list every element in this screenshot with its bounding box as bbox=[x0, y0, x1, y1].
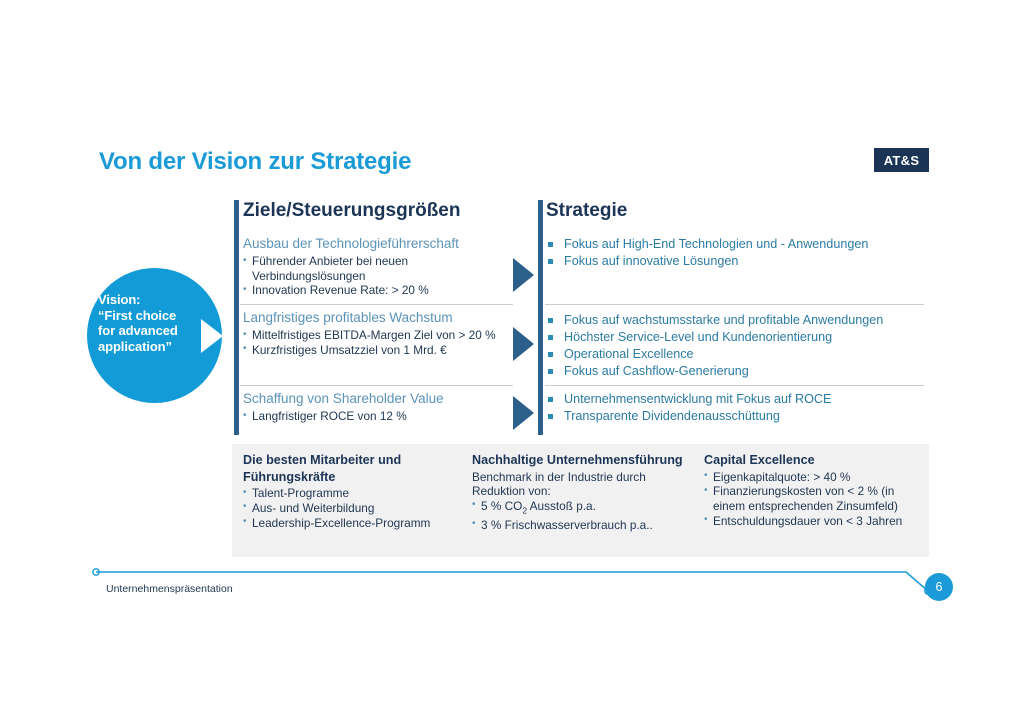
strategy-list: Unternehmensentwicklung mit Fokus auf RO… bbox=[548, 391, 928, 425]
foundation-item: Aus- und Weiterbildung bbox=[243, 501, 461, 516]
separator-right-1 bbox=[545, 304, 924, 305]
vision-text: Vision: “First choice for advanced appli… bbox=[98, 292, 206, 354]
foundation-title: Capital Excellence bbox=[704, 452, 922, 469]
strategy-item: Unternehmensentwicklung mit Fokus auf RO… bbox=[548, 391, 928, 408]
strategy-group: Fokus auf wachstumsstarke und profitable… bbox=[548, 312, 928, 380]
goal-list: Mittelfristiges EBITDA-Margen Ziel von >… bbox=[243, 328, 511, 357]
strategy-list: Fokus auf wachstumsstarke und profitable… bbox=[548, 312, 928, 380]
foundation-column: Nachhaltige Unternehmensführung Benchmar… bbox=[472, 452, 687, 533]
strategy-list: Fokus auf High-End Technologien und - An… bbox=[548, 236, 928, 270]
footer-label: Unternehmenspräsentation bbox=[106, 583, 233, 595]
foundation-item: Entschuldungsdauer von < 3 Jahren bbox=[704, 514, 922, 529]
strategy-item: Höchster Service-Level und Kundenorienti… bbox=[548, 329, 928, 346]
goals-column-bar bbox=[234, 200, 239, 435]
strategy-item: Transparente Dividendenausschüttung bbox=[548, 408, 928, 425]
vision-line-1: Vision: bbox=[98, 292, 206, 308]
separator-right-2 bbox=[545, 385, 924, 386]
foundation-intro: Benchmark in der Industrie durch Redukti… bbox=[472, 470, 687, 499]
foundation-title: Die besten Mitarbeiter und Führungskräft… bbox=[243, 452, 461, 485]
flow-arrow-icon bbox=[513, 327, 534, 361]
goal-group: Schaffung von Shareholder Value Langfris… bbox=[243, 391, 511, 424]
goal-item: Kurzfristiges Umsatzziel von 1 Mrd. € bbox=[243, 343, 511, 358]
goal-list: Führender Anbieter bei neuen Verbindungs… bbox=[243, 254, 511, 298]
slide-canvas: Von der Vision zur Strategie AT&S Vision… bbox=[0, 0, 1024, 719]
vision-line-2: “First choice bbox=[98, 308, 206, 324]
goal-list: Langfristiger ROCE von 12 % bbox=[243, 409, 511, 424]
separator-left-1 bbox=[240, 304, 513, 305]
strategy-item: Fokus auf wachstumsstarke und profitable… bbox=[548, 312, 928, 329]
vision-line-3: for advanced bbox=[98, 323, 206, 339]
foundation-item: 3 % Frischwasserverbrauch p.a.. bbox=[472, 518, 687, 533]
goal-group-title: Ausbau der Technologieführerschaft bbox=[243, 236, 511, 251]
foundation-list: Eigenkapitalquote: > 40 % Finanzierungsk… bbox=[704, 470, 922, 529]
goal-item: Innovation Revenue Rate: > 20 % bbox=[243, 283, 511, 298]
company-logo: AT&S bbox=[874, 148, 929, 172]
goal-item: Langfristiger ROCE von 12 % bbox=[243, 409, 511, 424]
page-title: Von der Vision zur Strategie bbox=[99, 148, 411, 176]
goal-group-title: Langfristiges profitables Wachstum bbox=[243, 310, 511, 325]
foundation-item: Talent-Programme bbox=[243, 486, 461, 501]
foundation-item: Leadership-Excellence-Programm bbox=[243, 516, 461, 531]
goal-item: Führender Anbieter bei neuen Verbindungs… bbox=[243, 254, 511, 283]
foundation-title: Nachhaltige Unternehmensführung bbox=[472, 452, 687, 469]
goal-group-title: Schaffung von Shareholder Value bbox=[243, 391, 511, 406]
vision-arrow-icon bbox=[201, 319, 223, 353]
foundation-column: Die besten Mitarbeiter und Führungskräft… bbox=[243, 452, 461, 530]
foundation-list: Talent-Programme Aus- und Weiterbildung … bbox=[243, 486, 461, 530]
separator-left-2 bbox=[240, 385, 513, 386]
foundation-item: Finanzierungskosten von < 2 % (in einem … bbox=[704, 484, 922, 514]
flow-arrow-icon bbox=[513, 396, 534, 430]
strategy-item: Fokus auf High-End Technologien und - An… bbox=[548, 236, 928, 253]
strategy-group: Fokus auf High-End Technologien und - An… bbox=[548, 236, 928, 270]
goals-column-heading: Ziele/Steuerungsgrößen bbox=[243, 200, 460, 222]
strategy-item: Fokus auf Cashflow-Generierung bbox=[548, 363, 928, 380]
foundation-list: 5 % CO2 Ausstoß p.a. 3 % Frischwasserver… bbox=[472, 499, 687, 533]
foundation-item: Eigenkapitalquote: > 40 % bbox=[704, 470, 922, 485]
vision-line-4: application” bbox=[98, 339, 206, 355]
strategy-group: Unternehmensentwicklung mit Fokus auf RO… bbox=[548, 391, 928, 425]
strategy-item: Operational Excellence bbox=[548, 346, 928, 363]
strategy-column-bar bbox=[538, 200, 543, 435]
strategy-item: Fokus auf innovative Lösungen bbox=[548, 253, 928, 270]
goal-group: Ausbau der Technologieführerschaft Führe… bbox=[243, 236, 511, 298]
strategy-column-heading: Strategie bbox=[546, 200, 627, 222]
flow-arrow-icon bbox=[513, 258, 534, 292]
goal-item: Mittelfristiges EBITDA-Margen Ziel von >… bbox=[243, 328, 511, 343]
page-number-badge: 6 bbox=[925, 573, 953, 601]
foundation-column: Capital Excellence Eigenkapitalquote: > … bbox=[704, 452, 922, 529]
foundation-item: 5 % CO2 Ausstoß p.a. bbox=[472, 499, 687, 518]
goal-group: Langfristiges profitables Wachstum Mitte… bbox=[243, 310, 511, 357]
